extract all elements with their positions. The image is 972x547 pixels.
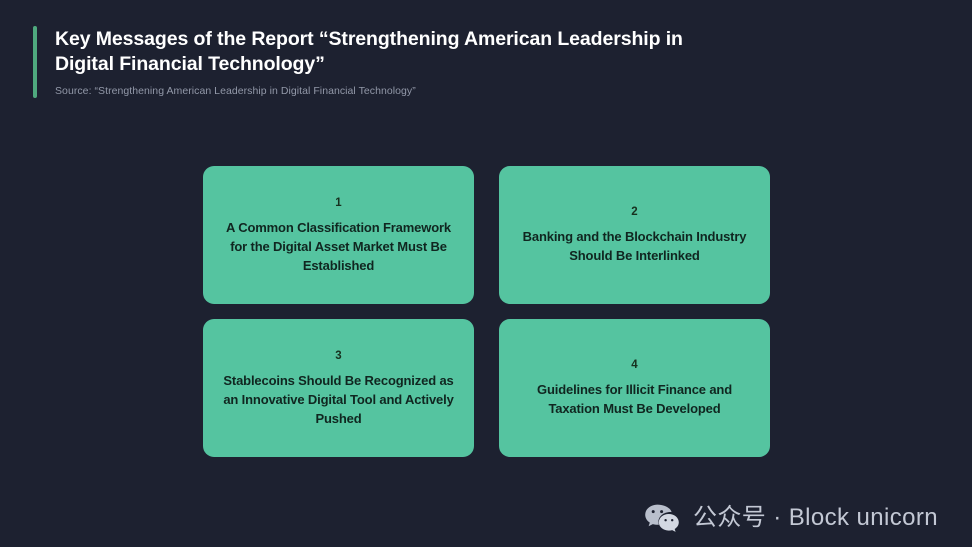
key-message-card-4: 4 Guidelines for Illicit Finance and Tax… — [499, 319, 770, 457]
header: Key Messages of the Report “Strengthenin… — [33, 26, 793, 98]
page-title: Key Messages of the Report “Strengthenin… — [55, 27, 725, 77]
card-number: 1 — [335, 196, 341, 210]
key-message-card-1: 1 A Common Classification Framework for … — [203, 166, 474, 304]
vertical-accent-bar-icon — [33, 26, 37, 98]
watermark: 公众号 · Block unicorn — [644, 503, 938, 533]
card-number: 4 — [631, 358, 637, 372]
wechat-icon — [644, 503, 680, 533]
key-message-card-3: 3 Stablecoins Should Be Recognized as an… — [203, 319, 474, 457]
key-messages-grid: 1 A Common Classification Framework for … — [203, 166, 770, 457]
header-text-group: Key Messages of the Report “Strengthenin… — [55, 26, 725, 98]
card-text: Banking and the Blockchain Industry Shou… — [513, 227, 756, 265]
card-number: 3 — [335, 349, 341, 363]
card-text: Stablecoins Should Be Recognized as an I… — [217, 371, 460, 428]
card-text: A Common Classification Framework for th… — [217, 218, 460, 275]
page-source: Source: “Strengthening American Leadersh… — [55, 84, 725, 98]
card-number: 2 — [631, 205, 637, 219]
watermark-text: 公众号 · Block unicorn — [693, 504, 938, 532]
card-text: Guidelines for Illicit Finance and Taxat… — [513, 380, 756, 418]
key-message-card-2: 2 Banking and the Blockchain Industry Sh… — [499, 166, 770, 304]
